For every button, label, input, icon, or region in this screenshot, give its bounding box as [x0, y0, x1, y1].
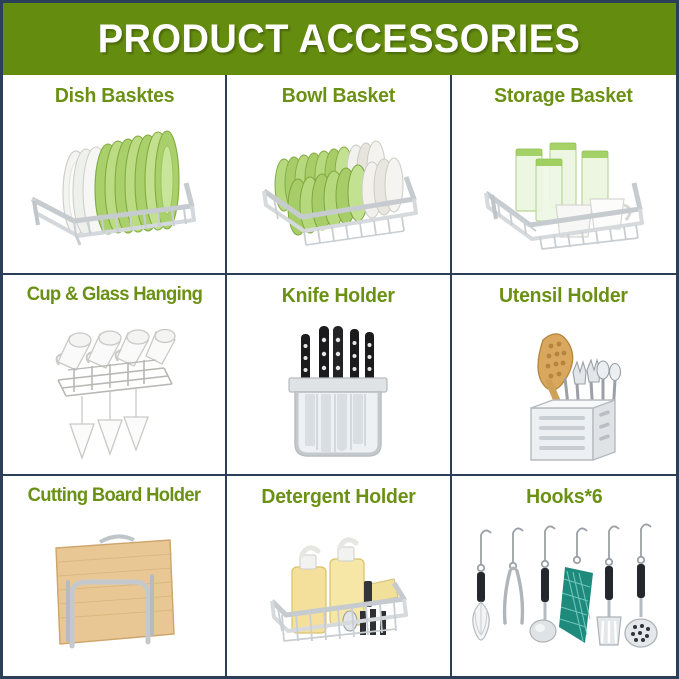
header-banner: PRODUCT ACCESSORIES — [3, 3, 676, 75]
hook-wires — [478, 524, 651, 571]
knife-holder-top-plate — [289, 378, 387, 392]
tongs-utensil — [505, 568, 523, 623]
cell-title-knife-holder: Knife Holder — [282, 285, 395, 307]
board-handle — [100, 537, 134, 543]
cell-title-detergent-holder: Detergent Holder — [261, 486, 415, 508]
cell-utensil-holder[interactable]: Utensil Holder — [452, 275, 676, 475]
knife-holder-illustration — [227, 309, 449, 473]
cell-cutting-board-holder[interactable]: Cutting Board Holder — [3, 476, 227, 676]
cell-hooks[interactable]: Hooks*6 — [452, 476, 676, 676]
cell-title-storage-basket: Storage Basket — [495, 85, 634, 107]
dish-rack-illustration — [3, 109, 225, 273]
spatula-utensil — [597, 566, 621, 645]
utensil-caddy-box — [531, 400, 615, 460]
hooks-illustration — [452, 510, 676, 676]
hanging-wine-glasses — [70, 389, 148, 458]
cell-title-utensil-holder: Utensil Holder — [499, 285, 628, 307]
cutting-board-holder-illustration — [3, 509, 225, 676]
cell-cup-glass-hanging[interactable]: Cup & Glass Hanging — [3, 275, 227, 475]
bowl-rack-illustration — [227, 109, 449, 273]
dish-towel — [559, 567, 593, 643]
cell-title-dish-basket: Dish Basktes — [54, 85, 174, 107]
cell-title-bowl-basket: Bowl Basket — [282, 85, 395, 107]
product-accessories-infographic: PRODUCT ACCESSORIES Dish Basktes — [0, 0, 679, 679]
ladle-utensil — [530, 568, 556, 642]
knife-handles — [301, 326, 374, 382]
page-title: PRODUCT ACCESSORIES — [98, 17, 581, 62]
cell-dish-basket[interactable]: Dish Basktes — [3, 75, 227, 275]
cell-detergent-holder[interactable]: Detergent Holder — [227, 476, 451, 676]
cell-title-hooks: Hooks*6 — [526, 486, 602, 508]
cell-title-cup-glass-hanging: Cup & Glass Hanging — [26, 285, 202, 306]
utensil-holder-illustration — [452, 309, 676, 473]
detergent-holder-illustration — [227, 510, 449, 676]
accessories-grid: Dish Basktes — [3, 75, 676, 676]
cell-storage-basket[interactable]: Storage Basket — [452, 75, 676, 275]
hanging-rack-illustration — [3, 308, 225, 473]
whisk-utensil — [473, 572, 489, 640]
cell-knife-holder[interactable]: Knife Holder — [227, 275, 451, 475]
cell-title-cutting-board-holder: Cutting Board Holder — [28, 486, 201, 507]
storage-basket-illustration — [452, 109, 676, 273]
cell-bowl-basket[interactable]: Bowl Basket — [227, 75, 451, 275]
skimmer-utensil — [625, 564, 657, 647]
knife-holder-body — [295, 392, 381, 456]
